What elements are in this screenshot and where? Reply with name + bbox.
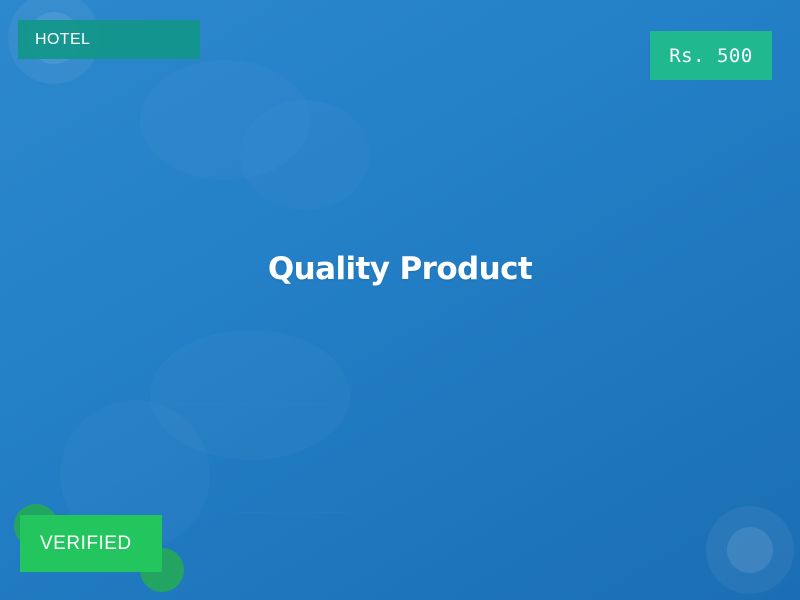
decorative-circle-bottom-right-inner <box>727 527 773 573</box>
category-badge[interactable]: HOTEL <box>18 20 200 59</box>
texture-line <box>235 512 355 513</box>
price-badge[interactable]: Rs. 500 <box>650 31 772 80</box>
verified-badge-label: VERIFIED <box>40 533 132 555</box>
verified-badge[interactable]: VERIFIED <box>20 515 162 572</box>
price-badge-label: Rs. 500 <box>669 45 753 67</box>
texture-line <box>170 404 330 405</box>
texture-blob <box>140 60 310 180</box>
category-badge-label: HOTEL <box>35 31 90 49</box>
texture-blob <box>240 100 370 210</box>
headline-text: Quality Product <box>0 251 800 287</box>
texture-blob <box>150 330 350 460</box>
background-texture <box>0 0 800 600</box>
promo-card: HOTEL Rs. 500 Quality Product VERIFIED <box>0 0 800 600</box>
